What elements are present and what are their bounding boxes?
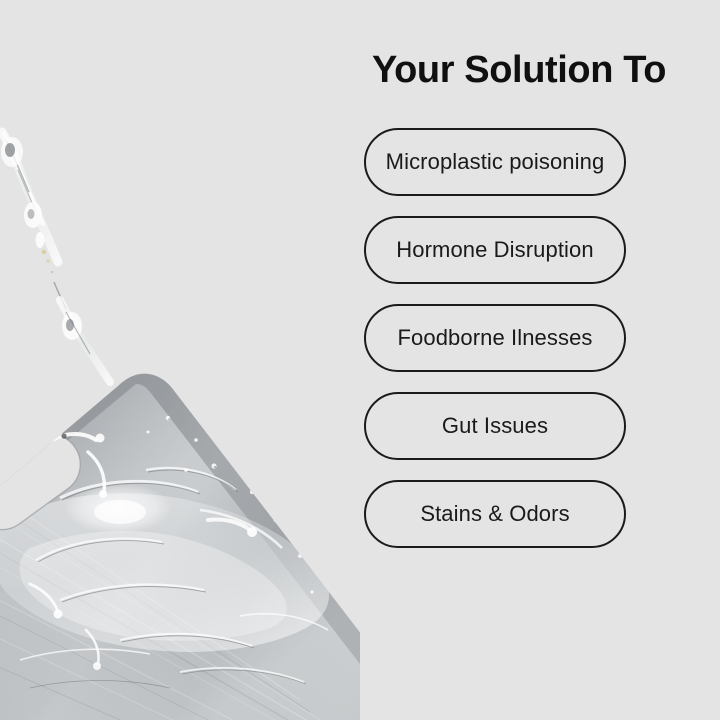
benefit-pill-gut-issues[interactable]: Gut Issues bbox=[364, 392, 626, 460]
product-photo bbox=[0, 0, 360, 720]
benefit-pill-stains-and-odors[interactable]: Stains & Odors bbox=[364, 480, 626, 548]
benefit-label: Gut Issues bbox=[442, 412, 548, 440]
benefit-label: Hormone Disruption bbox=[396, 236, 593, 264]
page-title: Your Solution To bbox=[332, 48, 706, 92]
promo-graphic: Your Solution To Microplastic poisoning … bbox=[0, 0, 720, 720]
benefit-label: Foodborne Ilnesses bbox=[397, 324, 592, 352]
benefit-label: Microplastic poisoning bbox=[386, 148, 605, 176]
benefit-pill-microplastic-poisoning[interactable]: Microplastic poisoning bbox=[364, 128, 626, 196]
content-column: Your Solution To Microplastic poisoning … bbox=[360, 0, 720, 720]
cutting-board-with-water-photo bbox=[0, 0, 360, 720]
benefit-pill-hormone-disruption[interactable]: Hormone Disruption bbox=[364, 216, 626, 284]
benefit-pill-foodborne-ilnesses[interactable]: Foodborne Ilnesses bbox=[364, 304, 626, 372]
benefit-label: Stains & Odors bbox=[420, 500, 569, 528]
benefits-list: Microplastic poisoning Hormone Disruptio… bbox=[364, 128, 626, 548]
